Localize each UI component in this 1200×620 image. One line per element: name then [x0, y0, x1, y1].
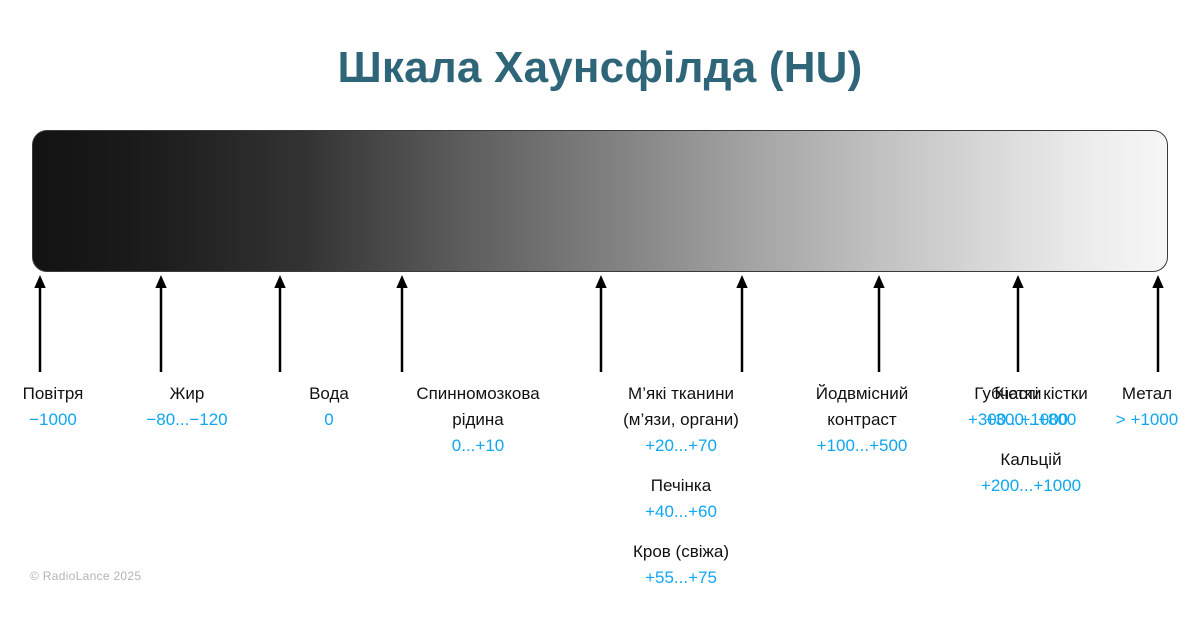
scale-pointer-arrow — [1012, 275, 1025, 372]
scale-pointer-arrow — [873, 275, 886, 372]
hu-value: +200...+1000 — [931, 473, 1131, 499]
tissue-name: Вода — [269, 381, 389, 407]
scale-label-column-csf: Спинномозковарідина0...+10 — [378, 381, 578, 459]
hu-value: 0 — [269, 407, 389, 433]
scale-label-group: Метал> +1000 — [1082, 381, 1200, 433]
scale-label-group: Вода0 — [269, 381, 389, 433]
scale-label-column-metal: Метал> +1000 — [1082, 381, 1200, 433]
scale-label-group: Кальцій+200...+1000 — [931, 447, 1131, 499]
scale-label-column-fat: Жир−80...−120 — [102, 381, 272, 433]
scale-pointer-arrow — [595, 275, 608, 372]
scale-label-group: Кров (свіжа)+55...+75 — [576, 539, 786, 591]
tissue-name: Печінка — [576, 473, 786, 499]
scale-label-column-water: Вода0 — [269, 381, 389, 433]
hu-value: 0...+10 — [378, 433, 578, 459]
hu-value: +55...+75 — [576, 565, 786, 591]
tissue-name: Метал — [1082, 381, 1200, 407]
scale-label-group: Печінка+40...+60 — [576, 473, 786, 525]
tissue-name: рідина — [378, 407, 578, 433]
hu-value: −80...−120 — [102, 407, 272, 433]
tissue-name: Кров (свіжа) — [576, 539, 786, 565]
tissue-name: Кальцій — [931, 447, 1131, 473]
tissue-name: М’які тканини — [576, 381, 786, 407]
scale-label-group: М’які тканини(м’язи, органи)+20...+70 — [576, 381, 786, 459]
tissue-name: Спинномозкова — [378, 381, 578, 407]
scale-label-group: Спинномозковарідина0...+10 — [378, 381, 578, 459]
hu-value: +20...+70 — [576, 433, 786, 459]
tissue-name: (м’язи, органи) — [576, 407, 786, 433]
hu-value: > +1000 — [1082, 407, 1200, 433]
scale-label-column-soft-tissue: М’які тканини(м’язи, органи)+20...+70Печ… — [576, 381, 786, 591]
page-title: Шкала Хаунсфілда (HU) — [0, 43, 1200, 93]
scale-pointer-arrow — [155, 275, 168, 372]
scale-pointer-arrow — [274, 275, 287, 372]
footer-credit: © RadioLance 2025 — [30, 569, 141, 583]
scale-pointer-arrow — [1152, 275, 1165, 372]
tissue-name: Жир — [102, 381, 272, 407]
scale-pointer-arrow — [396, 275, 409, 372]
scale-pointer-arrow — [736, 275, 749, 372]
scale-pointer-arrow — [34, 275, 47, 372]
hu-value: +40...+60 — [576, 499, 786, 525]
scale-label-group: Жир−80...−120 — [102, 381, 272, 433]
hounsfield-gradient-bar — [32, 130, 1168, 272]
